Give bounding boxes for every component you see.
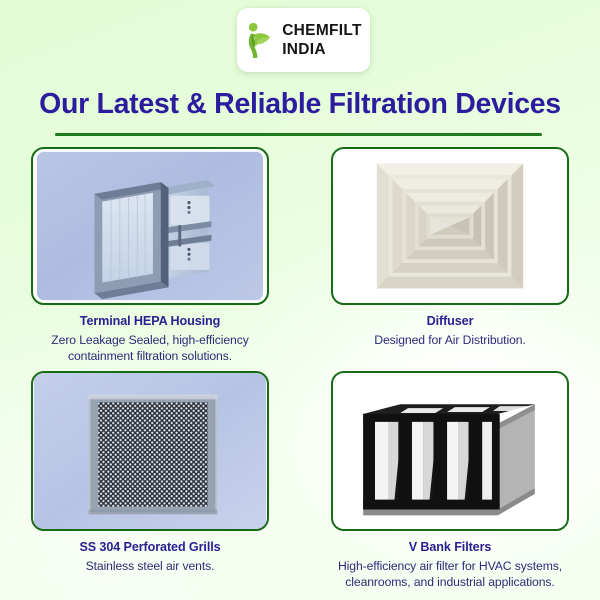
product-caption: V Bank Filters High-efficiency air filte… — [325, 540, 575, 590]
brand-name-line1: CHEMFILT — [282, 23, 362, 39]
product-image-frame — [31, 147, 269, 305]
product-grid: Terminal HEPA Housing Zero Leakage Seale… — [0, 147, 600, 597]
product-image-frame — [331, 147, 569, 305]
brand-logo-card[interactable]: CHEMFILT INDIA — [237, 8, 370, 72]
product-card-diffuser[interactable]: Diffuser Designed for Air Distribution. — [300, 147, 600, 371]
chemfilt-leaf-figure-icon — [245, 21, 275, 59]
product-description: Stainless steel air vents. — [25, 558, 275, 574]
brand-name-line2: INDIA — [282, 42, 362, 58]
square-ceiling-diffuser-photo — [333, 149, 567, 303]
product-title: V Bank Filters — [325, 540, 575, 556]
product-caption: Diffuser Designed for Air Distribution. — [325, 314, 575, 348]
product-caption: SS 304 Perforated Grills Stainless steel… — [25, 540, 275, 574]
product-image-frame — [31, 371, 269, 531]
product-image-frame — [331, 371, 569, 531]
perforated-grill-photo — [33, 373, 267, 529]
title-underline-divider — [55, 133, 542, 136]
v-bank-filter-photo — [333, 373, 567, 529]
product-title: Diffuser — [325, 314, 575, 330]
brand-wordmark: CHEMFILT INDIA — [282, 23, 362, 57]
product-card-v-bank-filters[interactable]: V Bank Filters High-efficiency air filte… — [300, 371, 600, 597]
product-title: SS 304 Perforated Grills — [25, 540, 275, 556]
product-description: Designed for Air Distribution. — [325, 332, 575, 348]
terminal-hepa-housing-photo — [33, 149, 267, 303]
product-card-terminal-hepa-housing[interactable]: Terminal HEPA Housing Zero Leakage Seale… — [0, 147, 300, 371]
product-caption: Terminal HEPA Housing Zero Leakage Seale… — [25, 314, 275, 364]
product-description: Zero Leakage Sealed, high-efficiency con… — [25, 332, 275, 364]
page-title: Our Latest & Reliable Filtration Devices — [0, 88, 600, 121]
product-card-ss-304-perforated-grills[interactable]: SS 304 Perforated Grills Stainless steel… — [0, 371, 300, 597]
poster-canvas: CHEMFILT INDIA Our Latest & Reliable Fil… — [0, 0, 600, 600]
product-description: High-efficiency air filter for HVAC syst… — [325, 558, 575, 590]
product-title: Terminal HEPA Housing — [25, 314, 275, 330]
